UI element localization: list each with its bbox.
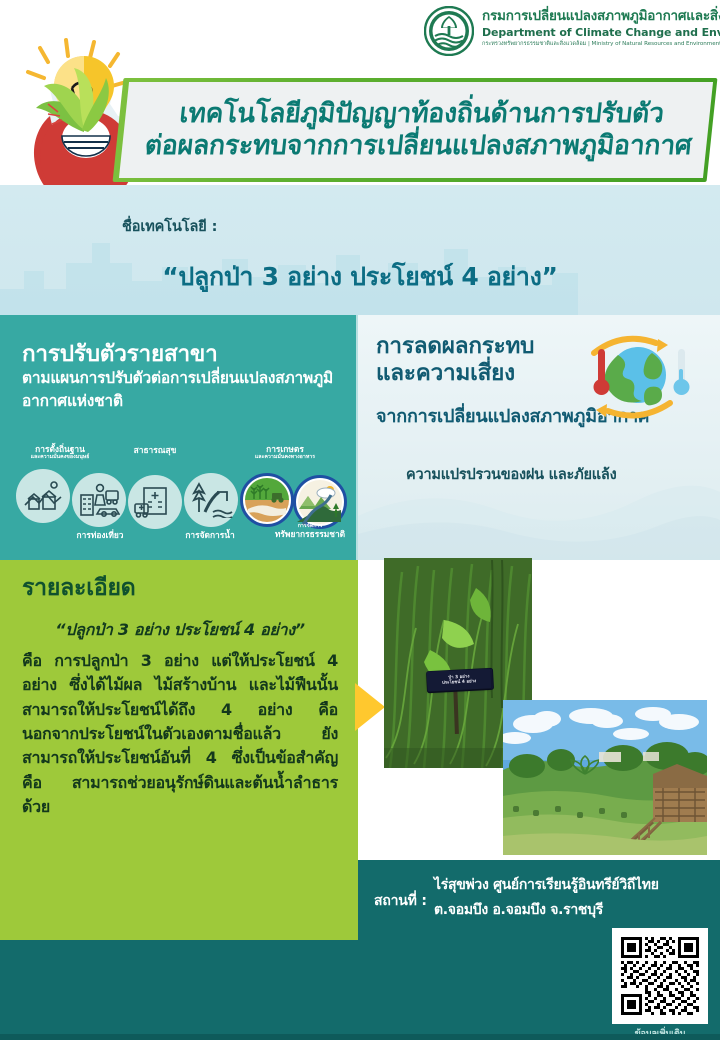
dcce-logo-text: กรมการเปลี่ยนแปลงสภาพภูมิอากาศและสิ่งแวด…: [482, 6, 720, 47]
poster-root: เทคโนโลยีภูมิปัญญาท้องถิ่นด้านการปรับตัว…: [0, 0, 720, 1040]
sector-caption-public-health: สาธารณสุข: [110, 446, 200, 455]
detail-panel: รายละเอียด “ปลูกป่า 3 อย่าง ประโยชน์ 4 อ…: [0, 560, 358, 940]
detail-heading: รายละเอียด: [22, 570, 135, 606]
natural-resources-icon: [293, 475, 347, 529]
sector-icons-row: การตั้งถิ่นฐาน และความมั่นคงของมนุษย์ สา…: [0, 445, 358, 560]
sector-caption-agriculture: การเกษตร และความมั่นคงทางอาหาร: [225, 445, 345, 461]
dcce-logo: กรมการเปลี่ยนแปลงสภาพภูมิอากาศและสิ่งแวด…: [424, 6, 716, 64]
tourism-icon: [72, 473, 126, 527]
place-label: สถานที่ :: [374, 890, 427, 912]
title-banner: เทคโนโลยีภูมิปัญญาท้องถิ่นด้านการปรับตัว…: [135, 84, 705, 176]
cold-thermometer: [674, 349, 690, 395]
mitigation-panel: การลดผลกระทบ และความเสี่ยง จากการเปลี่ยน…: [358, 315, 720, 560]
ministry-line: กระทรวงทรัพยากรธรรมชาติและสิ่งแวดล้อม | …: [482, 41, 720, 48]
sector-caption-water: การจัดการน้ำ: [160, 531, 260, 540]
settlement-icon: [16, 469, 70, 523]
technology-name: “ปลูกป่า 3 อย่าง ประโยชน์ 4 อย่าง”: [0, 257, 720, 297]
dcce-seal-icon: [424, 6, 474, 56]
agriculture-icon: [240, 473, 294, 527]
org-name-th: กรมการเปลี่ยนแปลงสภาพภูมิอากาศและสิ่งแวด…: [482, 9, 720, 25]
bottom-bar: [0, 1034, 720, 1040]
mitigation-note: ความแปรปรวนของฝน และภัยแล้ง: [406, 463, 616, 486]
technology-label: ชื่อเทคโนโลยี :: [122, 215, 217, 238]
sector-caption-tourism: การท่องเที่ยว: [50, 531, 150, 540]
sector-caption-natural-resources: การจัดการ ทรัพยากรธรรมชาติ: [258, 523, 358, 539]
adaptation-sectors-panel: การปรับตัวรายสาขา ตามแผนการปรับตัวต่อการ…: [0, 315, 358, 560]
forest-sign-label: ป่า 3 อย่าง ประโยชน์ 4 อย่าง: [427, 668, 492, 691]
qr-code-icon[interactable]: [612, 928, 708, 1024]
adaptation-subheading: ตามแผนการปรับตัวต่อการเปลี่ยนแปลงสภาพภูม…: [22, 367, 342, 414]
detail-body: “ปลูกป่า 3 อย่าง ประโยชน์ 4 อย่าง” คือ ก…: [22, 618, 338, 819]
water-management-icon: [184, 473, 238, 527]
header: เทคโนโลยีภูมิปัญญาท้องถิ่นด้านการปรับตัว…: [0, 0, 720, 200]
adaptation-heading: การปรับตัวรายสาขา: [22, 335, 218, 371]
mitigation-heading: การลดผลกระทบ และความเสี่ยง: [376, 333, 534, 388]
farm-landscape-photo: [503, 700, 707, 855]
place-line-2: ต.จอมบึง อ.จอมบึง จ.ราชบุรี: [434, 898, 714, 923]
place-value: ไร่สุขพ่วง ศูนย์การเรียนรู้อินทรีย์วิถีไ…: [434, 873, 714, 922]
public-health-icon: [128, 475, 182, 529]
globe-thermometer-icon: [566, 329, 706, 425]
mitigation-heading-line1: การลดผลกระทบ: [376, 333, 534, 360]
sign-line-2: ประโยชน์ 4 อย่าง: [442, 679, 477, 686]
right-arrow-icon: [355, 683, 385, 731]
qr-code-graphic: [618, 934, 702, 1018]
place-line-1: ไร่สุขพ่วง ศูนย์การเรียนรู้อินทรีย์วิถีไ…: [434, 873, 714, 898]
mitigation-heading-line2: และความเสี่ยง: [376, 360, 534, 387]
farm-photo-art: [503, 700, 707, 855]
technology-name-band: ชื่อเทคโนโลยี : “ปลูกป่า 3 อย่าง ประโยชน…: [0, 185, 720, 315]
title-line-1: เทคโนโลยีภูมิปัญญาท้องถิ่นด้านการปรับตัว: [178, 98, 666, 130]
sector-caption-settlement: การตั้งถิ่นฐาน และความมั่นคงของมนุษย์: [8, 445, 112, 461]
detail-text: คือ การปลูกป่า 3 อย่าง แต่ให้ประโยชน์ 4 …: [22, 649, 338, 819]
title-line-2: ต่อผลกระทบจากการเปลี่ยนแปลงสภาพภูมิอากาศ: [143, 130, 693, 162]
detail-quote: “ปลูกป่า 3 อย่าง ประโยชน์ 4 อย่าง”: [22, 618, 338, 643]
org-name-en: Department of Climate Change and Environ…: [482, 26, 720, 39]
